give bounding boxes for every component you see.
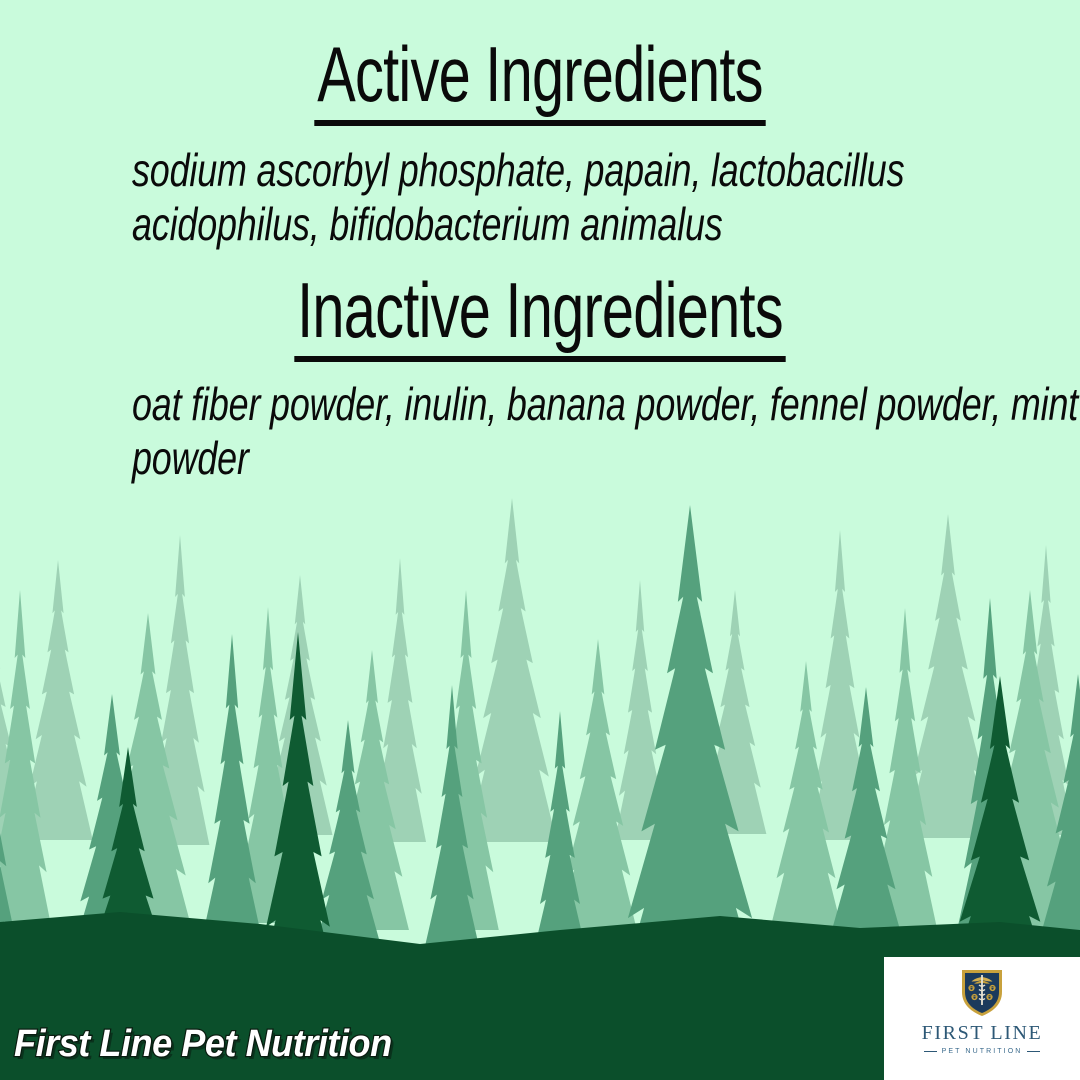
heading-active-ingredients-label: Active Ingredients [314,34,765,126]
shield-caduceus-icon [959,966,1005,1018]
logo-brand-name: FIRST LINE [922,1023,1043,1043]
brand-logo-card: FIRST LINE PET NUTRITION [884,957,1080,1080]
logo-tagline: PET NUTRITION [942,1048,1023,1055]
active-ingredients-list: sodium ascorbyl phosphate, papain, lacto… [132,144,1080,252]
tagline-rule-right [1027,1051,1040,1053]
brand-wordmark-footer: First Line Pet Nutrition [14,1023,392,1066]
heading-active-ingredients: Active Ingredients [140,34,939,126]
inactive-ingredients-list: oat fiber powder, inulin, banana powder,… [132,378,1080,486]
ingredients-graphic: Active Ingredients sodium ascorbyl phosp… [0,0,1080,1080]
heading-inactive-ingredients: Inactive Ingredients [140,270,939,362]
tagline-rule-left [924,1051,937,1053]
heading-inactive-ingredients-label: Inactive Ingredients [294,270,786,362]
ingredients-text-block: Active Ingredients sodium ascorbyl phosp… [0,0,1080,486]
logo-tagline-row: PET NUTRITION [924,1048,1041,1055]
